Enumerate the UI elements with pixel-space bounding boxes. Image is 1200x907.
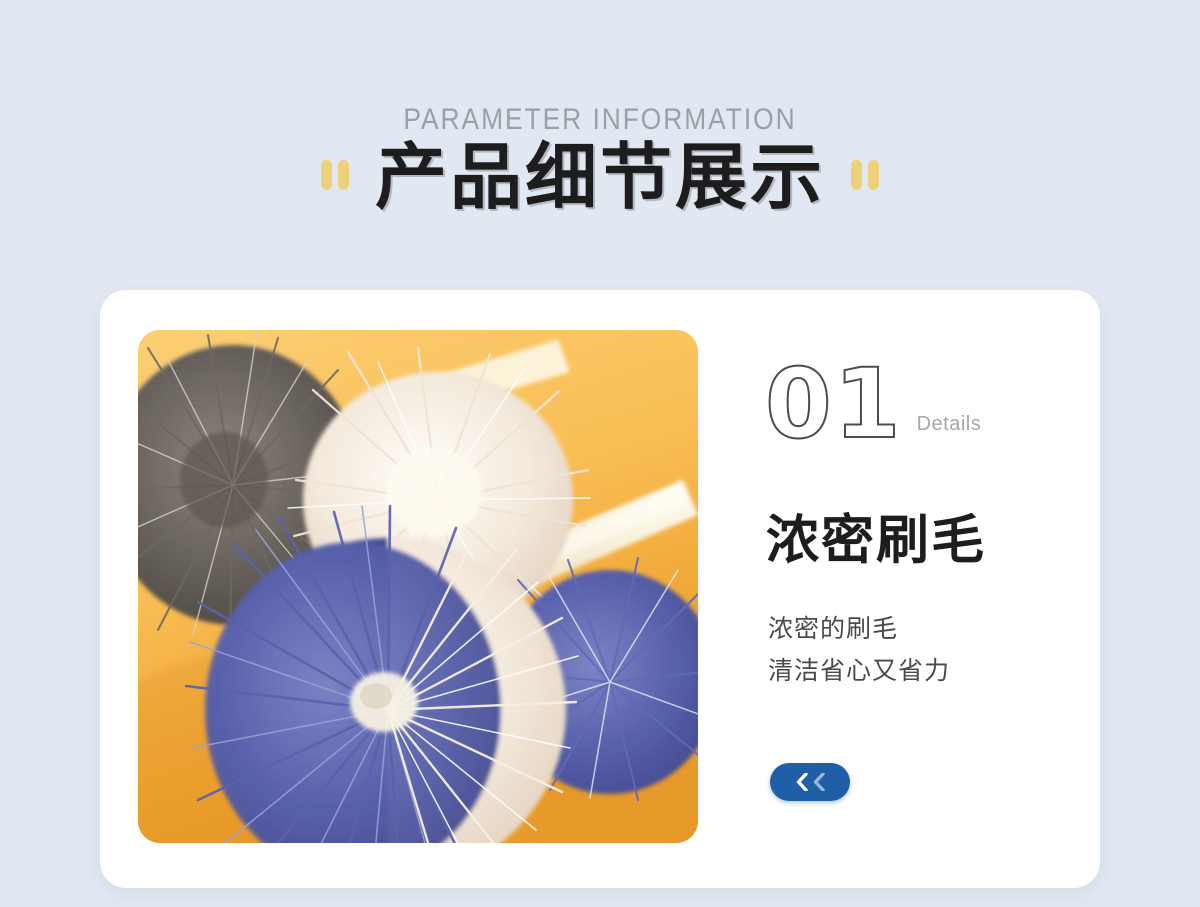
detail-number: 01	[765, 362, 903, 446]
detail-number-row: 01 Details	[765, 362, 981, 446]
detail-info: 01 Details 浓密刷毛 浓密的刷毛 清洁省心又省力	[760, 290, 1080, 888]
chevron-left-icon	[795, 773, 808, 791]
title-row: 产品细节展示	[0, 142, 1200, 214]
detail-subtext: 浓密的刷毛 清洁省心又省力	[768, 608, 950, 692]
page-title: 产品细节展示	[375, 142, 825, 214]
detail-subtext-line-2: 清洁省心又省力	[768, 650, 950, 692]
page-header: PARAMETER INFORMATION 产品细节展示	[0, 0, 1200, 290]
previous-arrows-button[interactable]	[770, 763, 850, 801]
quote-mark-left-icon	[321, 160, 349, 190]
detail-card: 01 Details 浓密刷毛 浓密的刷毛 清洁省心又省力	[100, 290, 1100, 888]
detail-subtext-line-1: 浓密的刷毛	[768, 608, 950, 650]
product-photo	[138, 330, 698, 843]
chevron-left-secondary-icon	[812, 773, 825, 791]
eyebrow-text: PARAMETER INFORMATION	[72, 103, 1128, 137]
detail-number-label: Details	[917, 413, 982, 446]
detail-headline: 浓密刷毛	[766, 512, 986, 570]
quote-mark-right-icon	[851, 160, 879, 190]
